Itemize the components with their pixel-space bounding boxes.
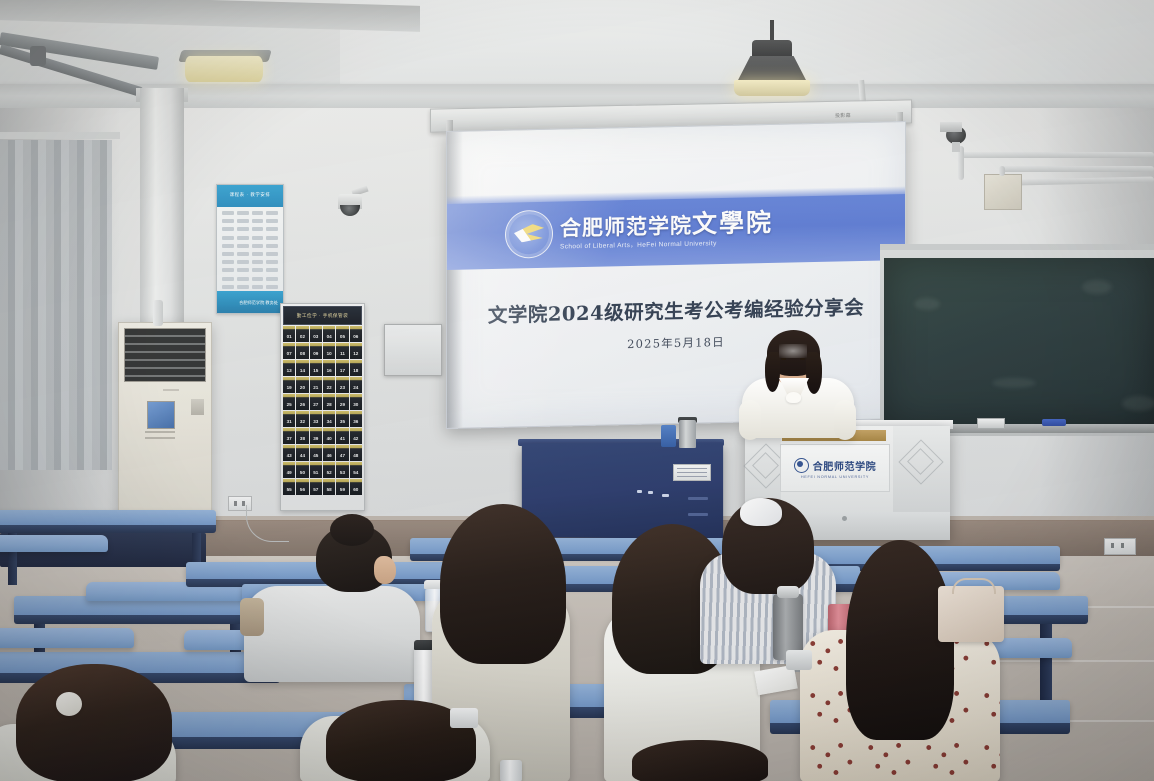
bench-seat <box>0 628 134 648</box>
pocket-number: 56 <box>300 487 305 492</box>
poster-header-text: 课程表 · 教学安排 <box>217 192 283 198</box>
blackboard <box>884 258 1154 424</box>
pocket-number: 58 <box>327 487 332 492</box>
classroom-photo-scene: 投影幕 合肥师范学院文學院 School of Liberal Arts，HeF… <box>0 0 1154 781</box>
junction-box <box>984 174 1022 210</box>
podium-en-name: HEFEI NORMAL UNIVERSITY <box>801 475 869 479</box>
pocket-number: 51 <box>313 470 318 475</box>
gray-vacuum-flask[interactable] <box>679 420 696 448</box>
pocket-number: 07 <box>287 351 292 356</box>
podium-cn-name: 合肥师范学院 <box>813 458 877 473</box>
pocket-number: 19 <box>287 385 292 390</box>
pocket-slot[interactable]: 33 <box>310 411 322 427</box>
pocket-number: 32 <box>300 419 305 424</box>
presenter-bow-tie <box>786 392 801 403</box>
pocket-number: 60 <box>353 487 358 492</box>
pocket-number: 05 <box>340 334 345 339</box>
pocket-slot[interactable]: 12 <box>350 343 362 359</box>
pocket-number: 37 <box>287 436 292 441</box>
ceiling-light-icon <box>185 56 263 82</box>
pocket-number: 29 <box>340 402 345 407</box>
pocket-number: 31 <box>287 419 292 424</box>
logo-text-block: 合肥师范学院文學院 School of Liberal Arts，HeFei N… <box>560 211 773 251</box>
pocket-slot[interactable]: 27 <box>310 394 322 410</box>
pocket-number: 28 <box>327 402 332 407</box>
pocket-number: 21 <box>313 385 318 390</box>
pocket-number: 08 <box>300 351 305 356</box>
pocket-number: 22 <box>327 385 332 390</box>
pocket-slot[interactable]: 09 <box>310 343 322 359</box>
pocket-slot[interactable]: 13 <box>283 360 295 376</box>
presenter-hair-left <box>765 352 780 392</box>
pocket-number: 36 <box>353 419 358 424</box>
slide-title: 文学院2024级研究生考公考编经验分享会 <box>447 290 905 329</box>
pocket-number: 09 <box>313 351 318 356</box>
desk-edge <box>14 615 264 624</box>
ac-label <box>191 399 204 415</box>
pocket-number: 53 <box>340 470 345 475</box>
pocket-number: 59 <box>340 487 345 492</box>
screen-glare <box>446 121 721 429</box>
pocket-number: 57 <box>313 487 318 492</box>
logo-english-name: School of Liberal Arts，HeFei Normal Univ… <box>560 240 773 251</box>
pocket-slot[interactable]: 31 <box>283 411 295 427</box>
pocket-slot[interactable]: 32 <box>296 411 308 427</box>
pocket-slot[interactable]: 28 <box>323 394 335 410</box>
pocket-slot[interactable]: 29 <box>336 394 348 410</box>
pocket-number: 42 <box>353 436 358 441</box>
pocket-slot[interactable]: 52 <box>323 462 335 478</box>
pocket-number: 46 <box>327 453 332 458</box>
student-hair-bun <box>330 514 374 546</box>
pocket-slot[interactable]: 10 <box>323 343 335 359</box>
presenter-arm-right <box>834 400 856 440</box>
blue-marker[interactable] <box>1042 419 1066 426</box>
pocket-slot[interactable]: 20 <box>296 377 308 393</box>
electrical-panel-icon[interactable] <box>384 324 442 376</box>
thermos-cap <box>777 586 799 598</box>
pocket-number: 48 <box>353 453 358 458</box>
pocket-number: 34 <box>327 419 332 424</box>
podium-knob <box>842 516 847 521</box>
student-face <box>374 556 396 584</box>
student-hair <box>16 664 172 781</box>
pocket-number: 54 <box>353 470 358 475</box>
pocket-grid: 0102030405060708091011121314151617181920… <box>283 326 362 495</box>
pocket-slot[interactable]: 46 <box>323 445 335 461</box>
student-torso <box>244 586 420 682</box>
pocket-number: 13 <box>287 368 292 373</box>
media-console[interactable] <box>522 442 723 538</box>
hair-clip-accessory <box>56 692 82 716</box>
floor-air-conditioner-icon <box>118 322 212 524</box>
console-label <box>673 464 711 481</box>
ceiling-fan-hub <box>30 46 46 66</box>
logo-school-name: 文學院 <box>692 209 773 239</box>
pocket-slot[interactable]: 15 <box>310 360 322 376</box>
poster-footer-text: 合肥师范学院 教务处 <box>239 300 278 306</box>
console-button[interactable] <box>637 490 642 493</box>
pendant-lamp-glass <box>734 80 810 96</box>
pocket-slot[interactable]: 54 <box>350 462 362 478</box>
pocket-number: 25 <box>287 402 292 407</box>
projector-wall-mount <box>940 122 962 132</box>
pocket-slot[interactable]: 25 <box>283 394 295 410</box>
pocket-slot[interactable]: 57 <box>310 479 322 495</box>
pocket-slot[interactable]: 53 <box>336 462 348 478</box>
pocket-number: 10 <box>327 351 332 356</box>
presenter-face-highlight <box>779 344 807 358</box>
pocket-number: 49 <box>287 470 292 475</box>
pocket-number: 04 <box>327 334 332 339</box>
tote-bag-handle <box>952 578 996 594</box>
logo-university-name: 合肥师范学院 <box>560 215 692 241</box>
curtain-rod <box>0 132 120 139</box>
pocket-slot[interactable]: 03 <box>310 326 322 342</box>
pocket-number: 06 <box>353 334 358 339</box>
pocket-number: 20 <box>300 385 305 390</box>
pocket-number: 02 <box>300 334 305 339</box>
power-outlet-icon[interactable] <box>1104 538 1136 555</box>
white-cup[interactable] <box>786 650 812 670</box>
pocket-slot[interactable]: 48 <box>350 445 362 461</box>
pocket-slot[interactable]: 51 <box>310 462 322 478</box>
ac-brand-badge <box>147 401 175 429</box>
conduit-pipe-vertical <box>999 166 1005 176</box>
beige-tote-bag[interactable] <box>240 598 264 636</box>
conduit-pipe <box>1000 166 1154 172</box>
bench-seat <box>0 535 108 552</box>
logo-cn-line: 合肥师范学院文學院 <box>560 211 773 241</box>
pocket-number: 41 <box>340 436 345 441</box>
pocket-slot[interactable]: 21 <box>310 377 322 393</box>
pocket-number: 33 <box>313 419 318 424</box>
pocket-slot[interactable]: 23 <box>336 377 348 393</box>
pocket-slot[interactable]: 58 <box>323 479 335 495</box>
student-hair <box>632 740 768 781</box>
slide-logo: 合肥师范学院文學院 School of Liberal Arts，HeFei N… <box>505 205 773 259</box>
pocket-slot[interactable]: 40 <box>323 428 335 444</box>
speaker-mount <box>952 142 960 152</box>
pocket-slot[interactable]: 05 <box>336 326 348 342</box>
pocket-slot[interactable]: 18 <box>350 360 362 376</box>
blue-cup[interactable] <box>661 425 676 447</box>
pocket-slot[interactable]: 38 <box>296 428 308 444</box>
pocket-number: 30 <box>353 402 358 407</box>
console-slot <box>688 497 708 500</box>
pocket-slot[interactable]: 24 <box>350 377 362 393</box>
window-curtain <box>0 140 112 470</box>
pocket-slot[interactable]: 35 <box>336 411 348 427</box>
pocket-number: 23 <box>340 385 345 390</box>
pocket-slot[interactable]: 44 <box>296 445 308 461</box>
pocket-number: 47 <box>340 453 345 458</box>
pocket-number: 39 <box>313 436 318 441</box>
pocket-slot[interactable]: 06 <box>350 326 362 342</box>
ac-louvers <box>124 328 206 382</box>
pocket-slot[interactable]: 41 <box>336 428 348 444</box>
pocket-slot[interactable]: 50 <box>296 462 308 478</box>
pocket-number: 26 <box>300 402 305 407</box>
console-button[interactable] <box>662 494 669 497</box>
screen-housing-label: 投影幕 <box>835 112 851 119</box>
pocket-number: 43 <box>287 453 292 458</box>
pocket-slot[interactable]: 16 <box>323 360 335 376</box>
presenter-arm-left <box>739 400 761 440</box>
beige-tote-bag[interactable] <box>938 586 1004 642</box>
pocket-slot[interactable]: 42 <box>350 428 362 444</box>
pocket-number: 14 <box>300 368 305 373</box>
pocket-slot[interactable]: 56 <box>296 479 308 495</box>
hair-bow-accessory <box>740 498 782 526</box>
phone-pocket-organizer: 勤工俭学 · 手机保管袋 010203040506070809101112131… <box>280 303 365 511</box>
pocket-number: 52 <box>327 470 332 475</box>
university-seal-icon <box>794 458 809 473</box>
pocket-number: 17 <box>340 368 345 373</box>
pocket-number: 55 <box>287 487 292 492</box>
pocket-slot[interactable]: 04 <box>323 326 335 342</box>
pocket-slot[interactable]: 47 <box>336 445 348 461</box>
pocket-slot[interactable]: 43 <box>283 445 295 461</box>
pocket-slot[interactable]: 17 <box>336 360 348 376</box>
ac-pipe <box>153 300 163 326</box>
pocket-slot[interactable]: 55 <box>283 479 295 495</box>
presenter-hair-right <box>806 352 822 394</box>
podium-name-plate: 合肥师范学院 HEFEI NORMAL UNIVERSITY <box>780 444 890 492</box>
pocket-slot[interactable]: 02 <box>296 326 308 342</box>
console-slot <box>688 513 708 516</box>
pocket-number: 40 <box>327 436 332 441</box>
desk-edge <box>0 525 216 533</box>
pocket-number: 03 <box>313 334 318 339</box>
pocket-slot[interactable]: 19 <box>283 377 295 393</box>
pocket-number: 35 <box>340 419 345 424</box>
pocket-number: 18 <box>353 368 358 373</box>
pocket-slot[interactable]: 59 <box>336 479 348 495</box>
pocket-number: 44 <box>300 453 305 458</box>
pocket-number: 12 <box>353 351 358 356</box>
pocket-slot[interactable]: 49 <box>283 462 295 478</box>
pocket-slot[interactable]: 39 <box>310 428 322 444</box>
pocket-slot[interactable]: 45 <box>310 445 322 461</box>
pocket-number: 24 <box>353 385 358 390</box>
pocket-slot[interactable]: 36 <box>350 411 362 427</box>
clear-water-bottle[interactable] <box>500 760 522 781</box>
university-emblem-icon <box>505 210 553 259</box>
pocket-slot[interactable]: 26 <box>296 394 308 410</box>
blackboard-eraser[interactable] <box>977 418 1005 429</box>
screen-edge-shadow <box>447 132 463 428</box>
pocket-number: 16 <box>327 368 332 373</box>
pocket-slot[interactable]: 22 <box>323 377 335 393</box>
white-cup[interactable] <box>450 708 478 728</box>
pocket-slot[interactable]: 60 <box>350 479 362 495</box>
slide-date: 2025年5月18日 <box>447 330 905 356</box>
pocket-slot[interactable]: 11 <box>336 343 348 359</box>
pocket-slot[interactable]: 14 <box>296 360 308 376</box>
pocket-number: 38 <box>300 436 305 441</box>
pocket-slot[interactable]: 34 <box>323 411 335 427</box>
pocket-number: 01 <box>287 334 292 339</box>
pocket-number: 45 <box>313 453 318 458</box>
wall-poster-schedule: 课程表 · 教学安排 合肥师范学院 教务处 <box>216 184 284 314</box>
pocket-slot[interactable]: 01 <box>283 326 295 342</box>
pocket-slot[interactable]: 30 <box>350 394 362 410</box>
pocket-number: 11 <box>340 351 345 356</box>
pocket-slot[interactable]: 08 <box>296 343 308 359</box>
pocket-number: 50 <box>300 470 305 475</box>
conduit-pipe <box>960 152 1154 158</box>
pocket-number: 15 <box>313 368 318 373</box>
console-button[interactable] <box>648 491 653 494</box>
pocket-organizer-header: 勤工俭学 · 手机保管袋 <box>283 306 362 325</box>
pocket-slot[interactable]: 37 <box>283 428 295 444</box>
student-hair <box>440 504 566 664</box>
pocket-slot[interactable]: 07 <box>283 343 295 359</box>
pocket-number: 27 <box>313 402 318 407</box>
